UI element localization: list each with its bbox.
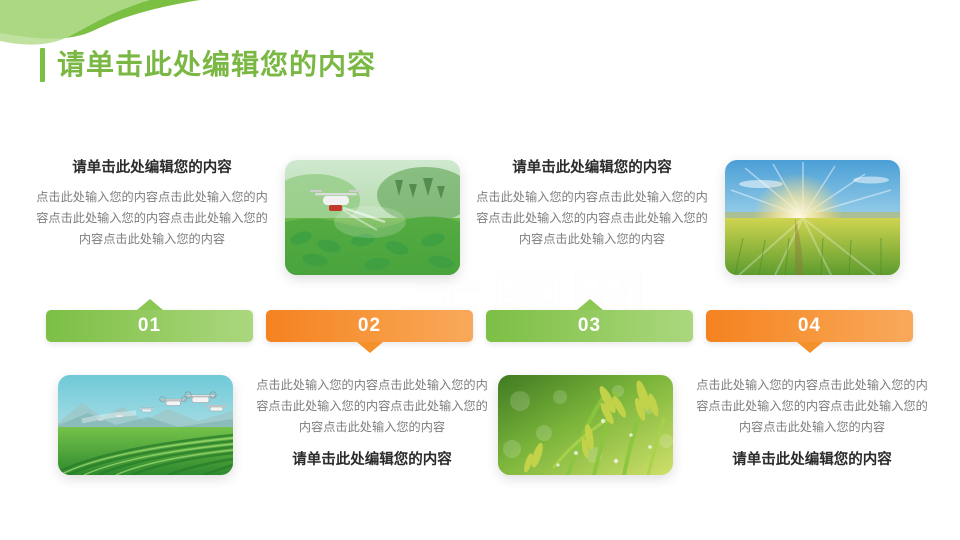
step-bar-02[interactable]: 02	[266, 310, 473, 342]
step-number-01: 01	[138, 315, 161, 337]
block-body-03: 点击此处输入您的内容点击此处输入您的内容点击此处输入您的内容点击此处输入您的内容…	[476, 187, 708, 250]
block-heading-02: 请单击此处编辑您的内容	[256, 450, 488, 470]
pointer-down-icon	[797, 342, 823, 353]
text-block-02: 点击此处输入您的内容点击此处输入您的内容点击此处输入您的内容点击此处输入您的内容…	[256, 375, 488, 470]
step-number-02: 02	[358, 315, 381, 337]
text-block-01: 请单击此处编辑您的内容 点击此处输入您的内容点击此处输入您的内容点击此处输入您的…	[36, 158, 268, 250]
step-bar-04[interactable]: 04	[706, 310, 913, 342]
block-heading-04: 请单击此处编辑您的内容	[696, 450, 928, 470]
page-title: 请单击此处编辑您的内容	[40, 48, 376, 82]
block-heading-03: 请单击此处编辑您的内容	[476, 158, 708, 178]
photo-rice-stalks-dew	[498, 375, 673, 475]
photo-drone-spraying	[285, 160, 460, 275]
slide-canvas: 请单击此处编辑您的内容 主图网	[0, 0, 960, 540]
title-text: 请单击此处编辑您的内容	[57, 51, 376, 79]
block-body-04: 点击此处输入您的内容点击此处输入您的内容点击此处输入您的内容点击此处输入您的内容…	[696, 375, 928, 438]
pointer-up-icon	[137, 299, 163, 310]
block-heading-01: 请单击此处编辑您的内容	[36, 158, 268, 178]
pointer-down-icon	[357, 342, 383, 353]
block-body-02: 点击此处输入您的内容点击此处输入您的内容点击此处输入您的内容点击此处输入您的内容…	[256, 375, 488, 438]
step-number-04: 04	[798, 315, 821, 337]
photo-drone-fleet-plantation	[58, 375, 233, 475]
pointer-up-icon	[577, 299, 603, 310]
text-block-03: 请单击此处编辑您的内容 点击此处输入您的内容点击此处输入您的内容点击此处输入您的…	[476, 158, 708, 250]
photo-sunrise-wheat-field	[725, 160, 900, 275]
block-body-01: 点击此处输入您的内容点击此处输入您的内容点击此处输入您的内容点击此处输入您的内容…	[36, 187, 268, 250]
step-number-03: 03	[578, 315, 601, 337]
title-accent-bar	[40, 48, 45, 82]
text-block-04: 点击此处输入您的内容点击此处输入您的内容点击此处输入您的内容点击此处输入您的内容…	[696, 375, 928, 470]
step-bar-03[interactable]: 03	[486, 310, 693, 342]
step-bar-01[interactable]: 01	[46, 310, 253, 342]
